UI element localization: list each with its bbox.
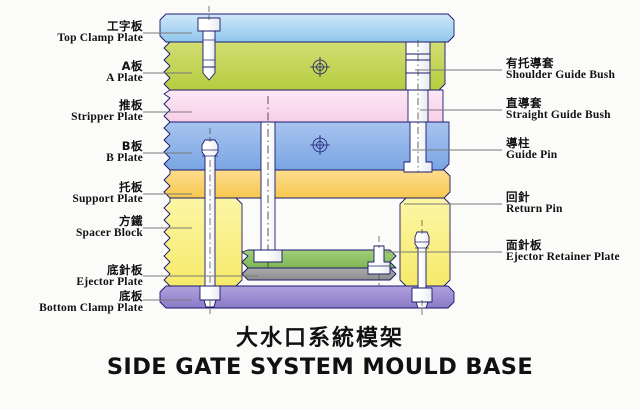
label-ejector-plate-en: Ejector Plate [0, 276, 143, 288]
mould-base-diagram: 工字板 Top Clamp Plate A板 A Plate 推板 Stripp… [0, 0, 640, 410]
title-chinese: 大水口系統模架 [0, 320, 640, 352]
label-stripper-plate-cn: 推板 [0, 99, 143, 111]
label-return-pin-en: Return Pin [506, 203, 563, 215]
label-straight-guide-bush: 直導套 Straight Guide Bush [506, 97, 611, 121]
label-spacer-block-cn: 方鐵 [0, 215, 143, 227]
label-shoulder-guide-bush: 有托導套 Shoulder Guide Bush [506, 57, 615, 81]
label-stripper-plate-en: Stripper Plate [0, 111, 143, 123]
label-a-plate: A板 A Plate [0, 60, 143, 84]
label-top-clamp-plate: 工字板 Top Clamp Plate [0, 20, 143, 44]
title-english: SIDE GATE SYSTEM MOULD BASE [0, 354, 640, 380]
diagram-title: 大水口系統模架 SIDE GATE SYSTEM MOULD BASE [0, 320, 640, 380]
screw-return-pin-bottom-left [200, 286, 220, 314]
label-top-clamp-plate-en: Top Clamp Plate [0, 32, 143, 44]
label-ejector-plate: 底針板 Ejector Plate [0, 264, 143, 288]
label-support-plate: 托板 Support Plate [0, 181, 143, 205]
label-guide-pin: 導柱 Guide Pin [506, 137, 557, 161]
label-ejector-retainer-plate: 面針板 Ejector Retainer Plate [506, 239, 620, 263]
spacer-block-left [164, 198, 242, 286]
label-a-plate-en: A Plate [0, 72, 143, 84]
label-bottom-clamp-plate-en: Bottom Clamp Plate [0, 302, 143, 314]
label-support-plate-en: Support Plate [0, 193, 143, 205]
label-bottom-clamp-plate-cn: 底板 [0, 290, 143, 302]
label-spacer-block-en: Spacer Block [0, 227, 143, 239]
label-guide-pin-en: Guide Pin [506, 149, 557, 161]
label-bottom-clamp-plate: 底板 Bottom Clamp Plate [0, 290, 143, 314]
label-ejector-retainer-plate-cn: 面針板 [506, 239, 620, 251]
label-support-plate-cn: 托板 [0, 181, 143, 193]
label-stripper-plate: 推板 Stripper Plate [0, 99, 143, 123]
label-straight-guide-bush-cn: 直導套 [506, 97, 611, 109]
label-ejector-retainer-plate-en: Ejector Retainer Plate [506, 251, 620, 263]
label-shoulder-guide-bush-cn: 有托導套 [506, 57, 615, 69]
label-guide-pin-cn: 導柱 [506, 137, 557, 149]
plate-stripper [164, 90, 434, 122]
screw-bottom-right [412, 288, 432, 316]
label-return-pin: 回針 Return Pin [506, 191, 563, 215]
label-b-plate-en: B Plate [0, 152, 143, 164]
label-a-plate-cn: A板 [0, 60, 143, 72]
label-top-clamp-plate-cn: 工字板 [0, 20, 143, 32]
label-b-plate-cn: B板 [0, 140, 143, 152]
ejector-guide-bush-left [254, 250, 282, 262]
label-return-pin-cn: 回針 [506, 191, 563, 203]
label-straight-guide-bush-en: Straight Guide Bush [506, 109, 611, 121]
label-shoulder-guide-bush-en: Shoulder Guide Bush [506, 69, 615, 81]
label-b-plate: B板 B Plate [0, 140, 143, 164]
label-spacer-block: 方鐵 Spacer Block [0, 215, 143, 239]
label-ejector-plate-cn: 底針板 [0, 264, 143, 276]
